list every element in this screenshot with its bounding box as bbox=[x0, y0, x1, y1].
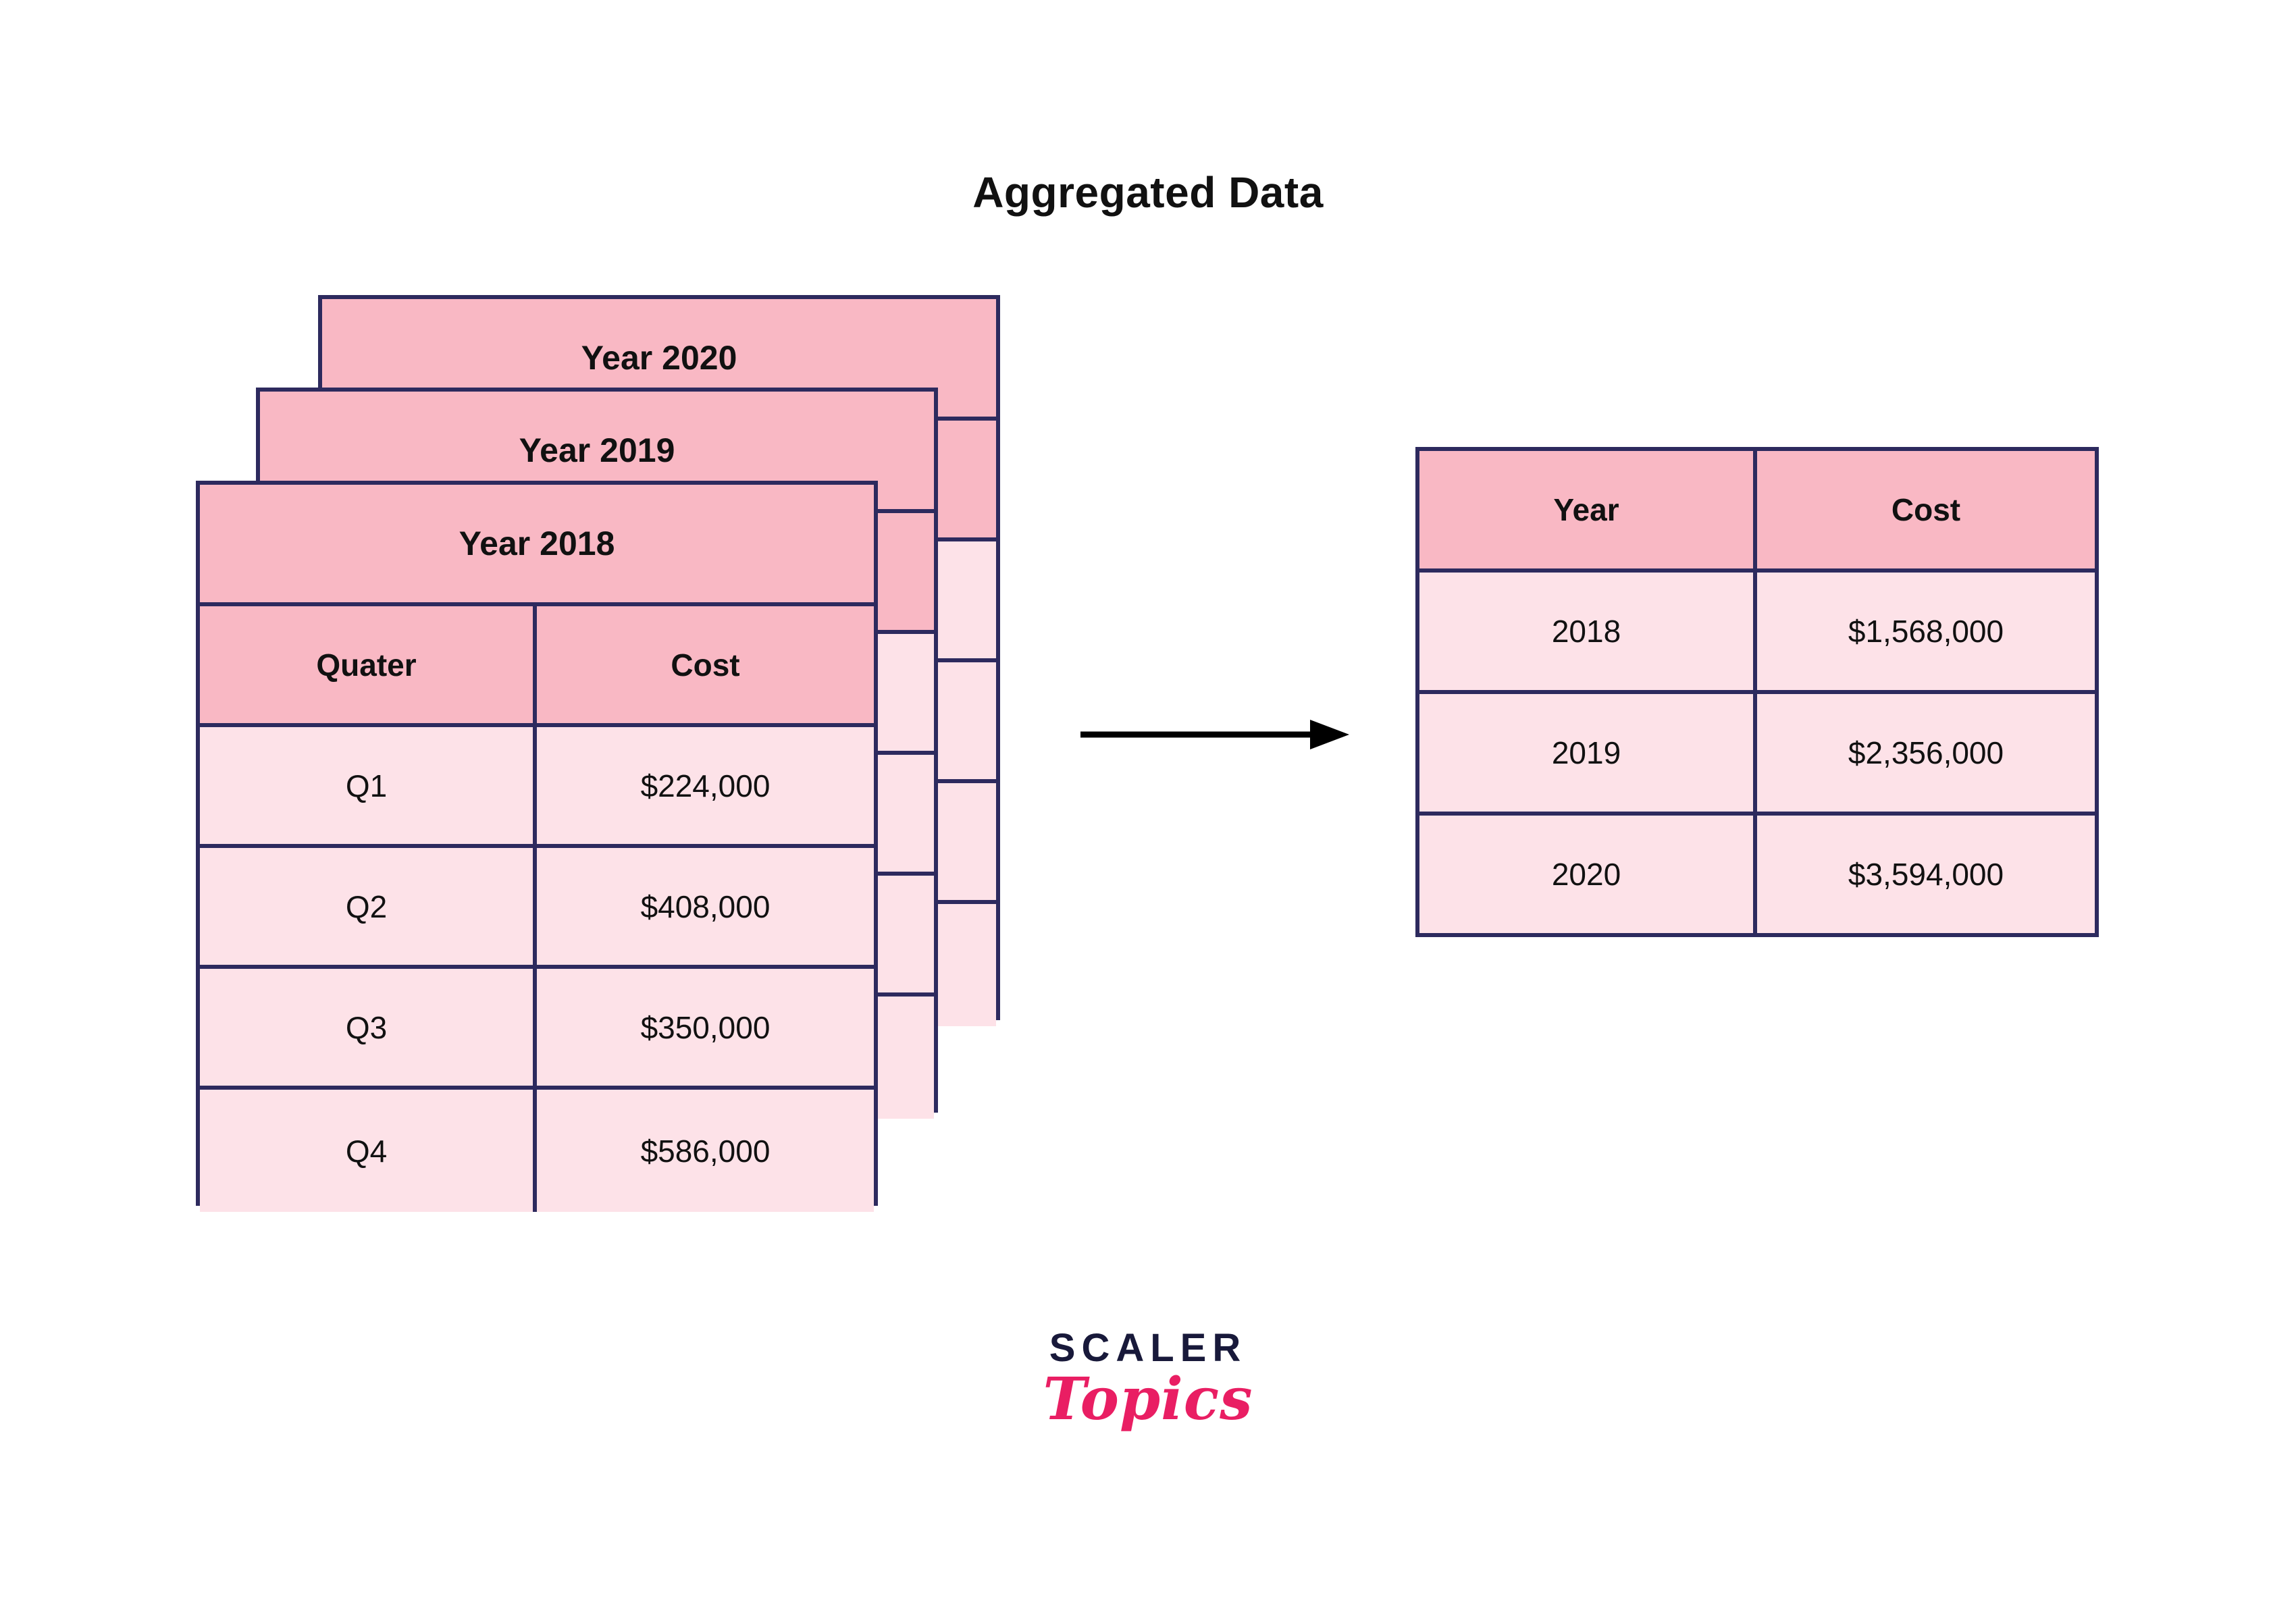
year-band-label: Year 2018 bbox=[200, 485, 874, 606]
table-header-row: Quater Cost bbox=[200, 606, 874, 727]
cell-year: 2020 bbox=[1419, 816, 1757, 933]
cell-cost: $224,000 bbox=[537, 727, 874, 844]
flow-arrow-right-icon bbox=[1080, 714, 1351, 755]
cell-cost: $586,000 bbox=[537, 1090, 874, 1212]
aggregated-result-table: Year Cost 2018 $1,568,000 2019 $2,356,00… bbox=[1415, 447, 2099, 937]
column-header-cost: Cost bbox=[537, 606, 874, 723]
cell-year: 2019 bbox=[1419, 694, 1757, 812]
table-row: 2018 $1,568,000 bbox=[1419, 573, 2095, 694]
table-row: Q3 $350,000 bbox=[200, 969, 874, 1090]
page-title: Aggregated Data bbox=[0, 167, 2296, 217]
cell-year: 2018 bbox=[1419, 573, 1757, 690]
cell-cost: $1,568,000 bbox=[1757, 573, 2095, 690]
cell-cost: $408,000 bbox=[537, 848, 874, 965]
table-row: 2019 $2,356,000 bbox=[1419, 694, 2095, 816]
table-row: Q4 $586,000 bbox=[200, 1090, 874, 1212]
cell-cost: $2,356,000 bbox=[1757, 694, 2095, 812]
cell-quarter: Q3 bbox=[200, 969, 537, 1086]
cell-quarter: Q4 bbox=[200, 1090, 537, 1212]
column-header-cost: Cost bbox=[1757, 451, 2095, 568]
figure-canvas: Aggregated Data Year 2020 Quater Cost Q1… bbox=[0, 0, 2296, 1619]
cell-quarter: Q2 bbox=[200, 848, 537, 965]
table-row: Q2 $408,000 bbox=[200, 848, 874, 969]
logo-wordmark-topics: Topics bbox=[0, 1369, 2296, 1430]
table-header-row: Year Cost bbox=[1419, 451, 2095, 573]
table-row: Q1 $224,000 bbox=[200, 727, 874, 848]
source-table-card-2018: Year 2018 Quater Cost Q1 $224,000 Q2 $40… bbox=[196, 481, 878, 1206]
cell-quarter: Q1 bbox=[200, 727, 537, 844]
cell-cost: $3,594,000 bbox=[1757, 816, 2095, 933]
column-header-quarter: Quater bbox=[200, 606, 537, 723]
logo-wordmark-scaler: SCALER bbox=[0, 1329, 2296, 1368]
table-row: 2020 $3,594,000 bbox=[1419, 816, 2095, 933]
column-header-year: Year bbox=[1419, 451, 1757, 568]
cell-cost: $350,000 bbox=[537, 969, 874, 1086]
scaler-topics-logo: SCALER Topics bbox=[0, 1329, 2296, 1430]
